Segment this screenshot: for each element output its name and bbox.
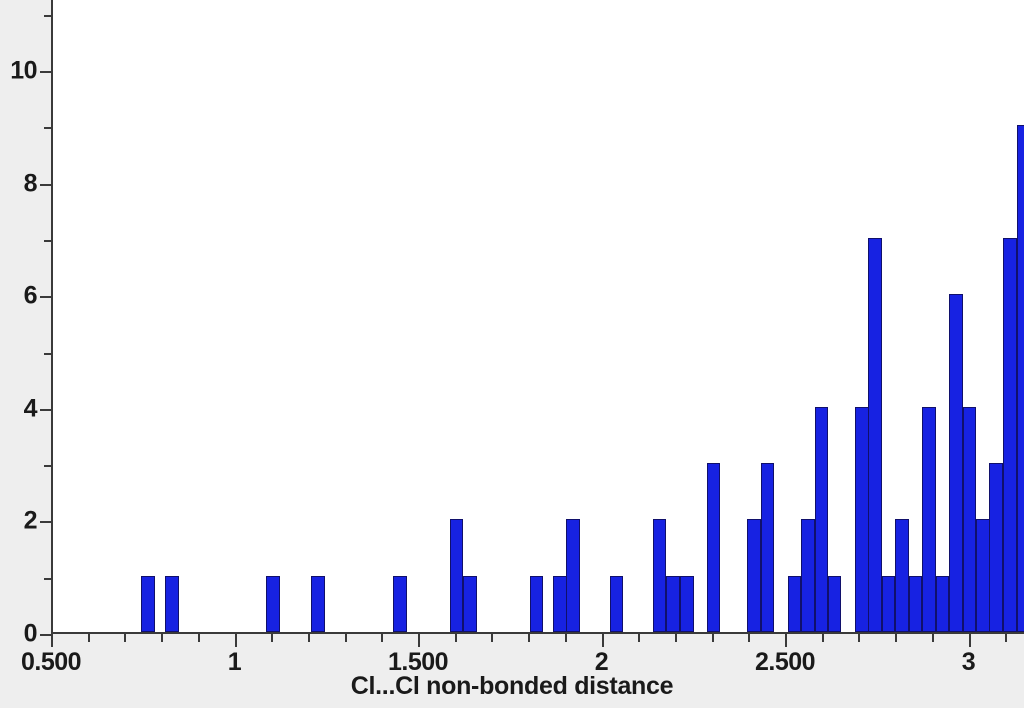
- y-tick-major: [40, 409, 51, 411]
- plot-area: [51, 0, 1024, 634]
- histogram-bar: [553, 576, 567, 632]
- y-tick-minor: [44, 15, 51, 17]
- x-tick-minor: [381, 634, 383, 642]
- x-tick-minor: [124, 634, 126, 642]
- histogram-bar: [909, 576, 923, 632]
- x-tick-minor: [1005, 634, 1007, 642]
- histogram-bar: [868, 238, 882, 632]
- x-tick-minor: [455, 634, 457, 642]
- histogram-bar: [936, 576, 950, 632]
- x-tick-minor: [822, 634, 824, 642]
- y-tick-label: 6: [24, 282, 37, 311]
- x-tick-minor: [748, 634, 750, 642]
- y-tick-major: [40, 296, 51, 298]
- y-tick-major: [40, 184, 51, 186]
- histogram-chart: 0246810 0.50011.50022.5003 Cl...Cl non-b…: [0, 0, 1024, 708]
- histogram-bar: [566, 519, 580, 632]
- histogram-bar: [922, 407, 936, 632]
- histogram-bar: [815, 407, 829, 632]
- y-tick-major: [40, 521, 51, 523]
- x-tick-major: [418, 634, 420, 647]
- histogram-bar: [653, 519, 667, 632]
- histogram-bar: [788, 576, 802, 632]
- histogram-bar: [311, 576, 325, 632]
- x-tick-minor: [565, 634, 567, 642]
- histogram-bar: [828, 576, 842, 632]
- histogram-bar: [976, 519, 990, 632]
- x-tick-major: [51, 634, 53, 647]
- histogram-bar: [747, 519, 761, 632]
- x-tick-major: [602, 634, 604, 647]
- histogram-bar: [165, 576, 179, 632]
- x-tick-minor: [161, 634, 163, 642]
- x-tick-minor: [271, 634, 273, 642]
- x-tick-minor: [198, 634, 200, 642]
- y-tick-label: 10: [10, 57, 37, 86]
- y-tick-major: [40, 634, 51, 636]
- y-tick-minor: [44, 465, 51, 467]
- y-tick-label: 0: [24, 620, 37, 649]
- y-tick-label: 8: [24, 169, 37, 198]
- x-tick-minor: [712, 634, 714, 642]
- x-tick-minor: [932, 634, 934, 642]
- x-tick-major: [969, 634, 971, 647]
- histogram-bar: [680, 576, 694, 632]
- histogram-bar: [801, 519, 815, 632]
- histogram-bar: [895, 519, 909, 632]
- y-tick-label: 4: [24, 394, 37, 423]
- y-tick-minor: [44, 353, 51, 355]
- y-tick-minor: [44, 240, 51, 242]
- histogram-bar: [761, 463, 775, 632]
- y-tick-minor: [44, 127, 51, 129]
- histogram-bar: [949, 294, 963, 632]
- x-tick-minor: [675, 634, 677, 642]
- y-tick-minor: [44, 578, 51, 580]
- y-tick-major: [40, 71, 51, 73]
- x-tick-minor: [528, 634, 530, 642]
- histogram-bar: [266, 576, 280, 632]
- x-tick-minor: [895, 634, 897, 642]
- histogram-bar: [1003, 238, 1017, 632]
- x-tick-major: [785, 634, 787, 647]
- histogram-bar: [989, 463, 1003, 632]
- x-tick-minor: [858, 634, 860, 642]
- y-tick-label: 2: [24, 507, 37, 536]
- histogram-bar: [855, 407, 869, 632]
- histogram-bar: [610, 576, 624, 632]
- x-tick-minor: [308, 634, 310, 642]
- histogram-bar: [141, 576, 155, 632]
- histogram-bar: [707, 463, 721, 632]
- x-tick-major: [235, 634, 237, 647]
- histogram-bar: [393, 576, 407, 632]
- x-axis-title: Cl...Cl non-bonded distance: [0, 672, 1024, 701]
- histogram-bar: [450, 519, 464, 632]
- y-axis: 0246810: [0, 0, 51, 640]
- histogram-bar: [963, 407, 977, 632]
- x-tick-minor: [638, 634, 640, 642]
- histogram-bar: [882, 576, 896, 632]
- x-tick-minor: [491, 634, 493, 642]
- bars-layer: [53, 0, 1024, 632]
- x-tick-minor: [345, 634, 347, 642]
- histogram-bar: [1017, 125, 1024, 632]
- histogram-bar: [530, 576, 544, 632]
- histogram-bar: [666, 576, 680, 632]
- x-tick-minor: [88, 634, 90, 642]
- histogram-bar: [463, 576, 477, 632]
- x-axis: 0.50011.50022.5003: [51, 634, 1024, 664]
